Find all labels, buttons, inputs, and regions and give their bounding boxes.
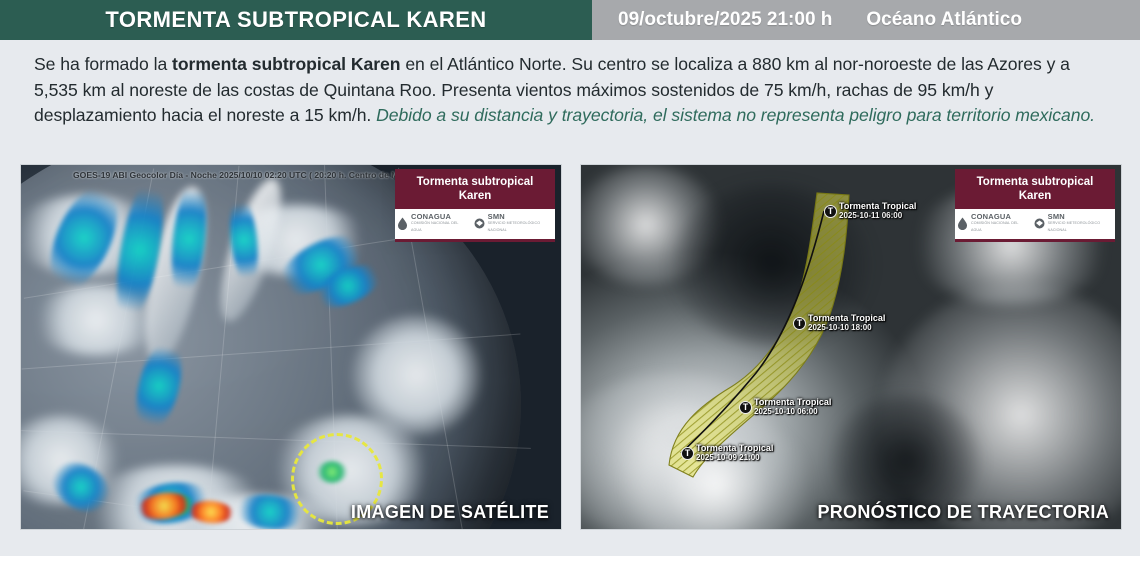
agency-badge: Tormenta subtropical Karen CONAGUA COMIS… (395, 169, 555, 242)
track-point-label: Tormenta Tropical 2025-10-09 21:00 (696, 443, 773, 463)
page-title: TORMENTA SUBTROPICAL KAREN (105, 7, 486, 33)
smn-logo-text: SMN SERVICIO METEOROLÓGICO NACIONAL (1048, 213, 1113, 234)
satellite-caption: IMAGEN DE SATÉLITE (351, 502, 549, 523)
storm-symbol-icon: T (681, 447, 694, 460)
bulletin-datetime: 09/octubre/2025 21:00 h (618, 9, 832, 31)
image-panels: GOES-19 ABI Geocolor Día - Noche 2025/10… (20, 164, 1122, 530)
bulletin-paragraph: Se ha formado la tormenta subtropical Ka… (34, 52, 1112, 129)
footer-strip (0, 556, 1140, 570)
badge-title-line2: Karen (1019, 190, 1052, 202)
water-drop-icon (957, 217, 968, 230)
trajectory-caption: PRONÓSTICO DE TRAYECTORIA (817, 502, 1109, 523)
track-point[interactable]: T Tormenta Tropical 2025-10-10 06:00 (739, 401, 752, 414)
badge-logo-row: CONAGUA COMISIÓN NACIONAL DEL AGUA SMN S… (395, 209, 555, 242)
conagua-sub: COMISIÓN NACIONAL DEL AGUA (411, 220, 464, 234)
satellite-panel[interactable]: GOES-19 ABI Geocolor Día - Noche 2025/10… (20, 164, 562, 530)
track-point-label: Tormenta Tropical 2025-10-11 06:00 (839, 201, 916, 221)
storm-symbol-icon: T (739, 401, 752, 414)
water-drop-icon (397, 217, 408, 230)
track-label-text: Tormenta Tropical (754, 397, 831, 407)
track-label-datetime: 2025-10-10 18:00 (808, 323, 885, 333)
conagua-name: CONAGUA (411, 213, 464, 220)
track-label-text: Tormenta Tropical (808, 313, 885, 323)
safety-note: Debido a su distancia y trayectoria, el … (376, 105, 1095, 125)
badge-title: Tormenta subtropical Karen (955, 169, 1115, 209)
smn-logo: SMN SERVICIO METEOROLÓGICO NACIONAL (474, 213, 553, 234)
conagua-sub: COMISIÓN NACIONAL DEL AGUA (971, 220, 1024, 234)
badge-logo-row: CONAGUA COMISIÓN NACIONAL DEL AGUA SMN S… (955, 209, 1115, 242)
smn-sub: SERVICIO METEOROLÓGICO NACIONAL (1048, 220, 1113, 234)
smn-logo-text: SMN SERVICIO METEOROLÓGICO NACIONAL (488, 213, 553, 234)
badge-title-line2: Karen (459, 190, 492, 202)
satellite-timestamp: GOES-19 ABI Geocolor Día - Noche 2025/10… (73, 170, 426, 180)
conagua-name: CONAGUA (971, 213, 1024, 220)
smn-logo: SMN SERVICIO METEOROLÓGICO NACIONAL (1034, 213, 1113, 234)
track-point[interactable]: T Tormenta Tropical 2025-10-10 18:00 (793, 317, 806, 330)
conagua-logo: CONAGUA COMISIÓN NACIONAL DEL AGUA (397, 213, 464, 234)
conagua-logo-text: CONAGUA COMISIÓN NACIONAL DEL AGUA (411, 213, 464, 234)
page-header: TORMENTA SUBTROPICAL KAREN 09/octubre/20… (0, 0, 1140, 40)
header-title-band: TORMENTA SUBTROPICAL KAREN (0, 0, 592, 40)
bulletin-region: Océano Atlántico (866, 9, 1022, 31)
smn-sub: SERVICIO METEOROLÓGICO NACIONAL (488, 220, 553, 234)
storm-symbol-icon: T (824, 205, 837, 218)
smn-name: SMN (1048, 213, 1113, 220)
trajectory-panel[interactable]: T Tormenta Tropical 2025-10-11 06:00 T T… (580, 164, 1122, 530)
conagua-logo-text: CONAGUA COMISIÓN NACIONAL DEL AGUA (971, 213, 1024, 234)
conagua-logo: CONAGUA COMISIÓN NACIONAL DEL AGUA (957, 213, 1024, 234)
storm-symbol-icon: T (793, 317, 806, 330)
eagle-emblem-icon (1034, 217, 1045, 230)
storm-name-bold: tormenta subtropical Karen (172, 54, 400, 74)
paragraph-part-1: Se ha formado la (34, 54, 172, 74)
agency-badge: Tormenta subtropical Karen CONAGUA COMIS… (955, 169, 1115, 242)
track-point[interactable]: T Tormenta Tropical 2025-10-09 21:00 (681, 447, 694, 460)
eagle-emblem-icon (474, 217, 485, 230)
track-label-datetime: 2025-10-10 06:00 (754, 407, 831, 417)
track-label-text: Tormenta Tropical (839, 201, 916, 211)
track-point[interactable]: T Tormenta Tropical 2025-10-11 06:00 (824, 205, 837, 218)
badge-title-line1: Tormenta subtropical (417, 176, 534, 188)
track-label-datetime: 2025-10-09 21:00 (696, 453, 773, 463)
track-label-datetime: 2025-10-11 06:00 (839, 211, 916, 221)
smn-name: SMN (488, 213, 553, 220)
badge-title-line1: Tormenta subtropical (977, 176, 1094, 188)
badge-title: Tormenta subtropical Karen (395, 169, 555, 209)
track-point-label: Tormenta Tropical 2025-10-10 18:00 (808, 313, 885, 333)
header-meta-band: 09/octubre/2025 21:00 h Océano Atlántico (592, 0, 1140, 40)
track-point-label: Tormenta Tropical 2025-10-10 06:00 (754, 397, 831, 417)
weather-bulletin-page: TORMENTA SUBTROPICAL KAREN 09/octubre/20… (0, 0, 1140, 570)
track-label-text: Tormenta Tropical (696, 443, 773, 453)
